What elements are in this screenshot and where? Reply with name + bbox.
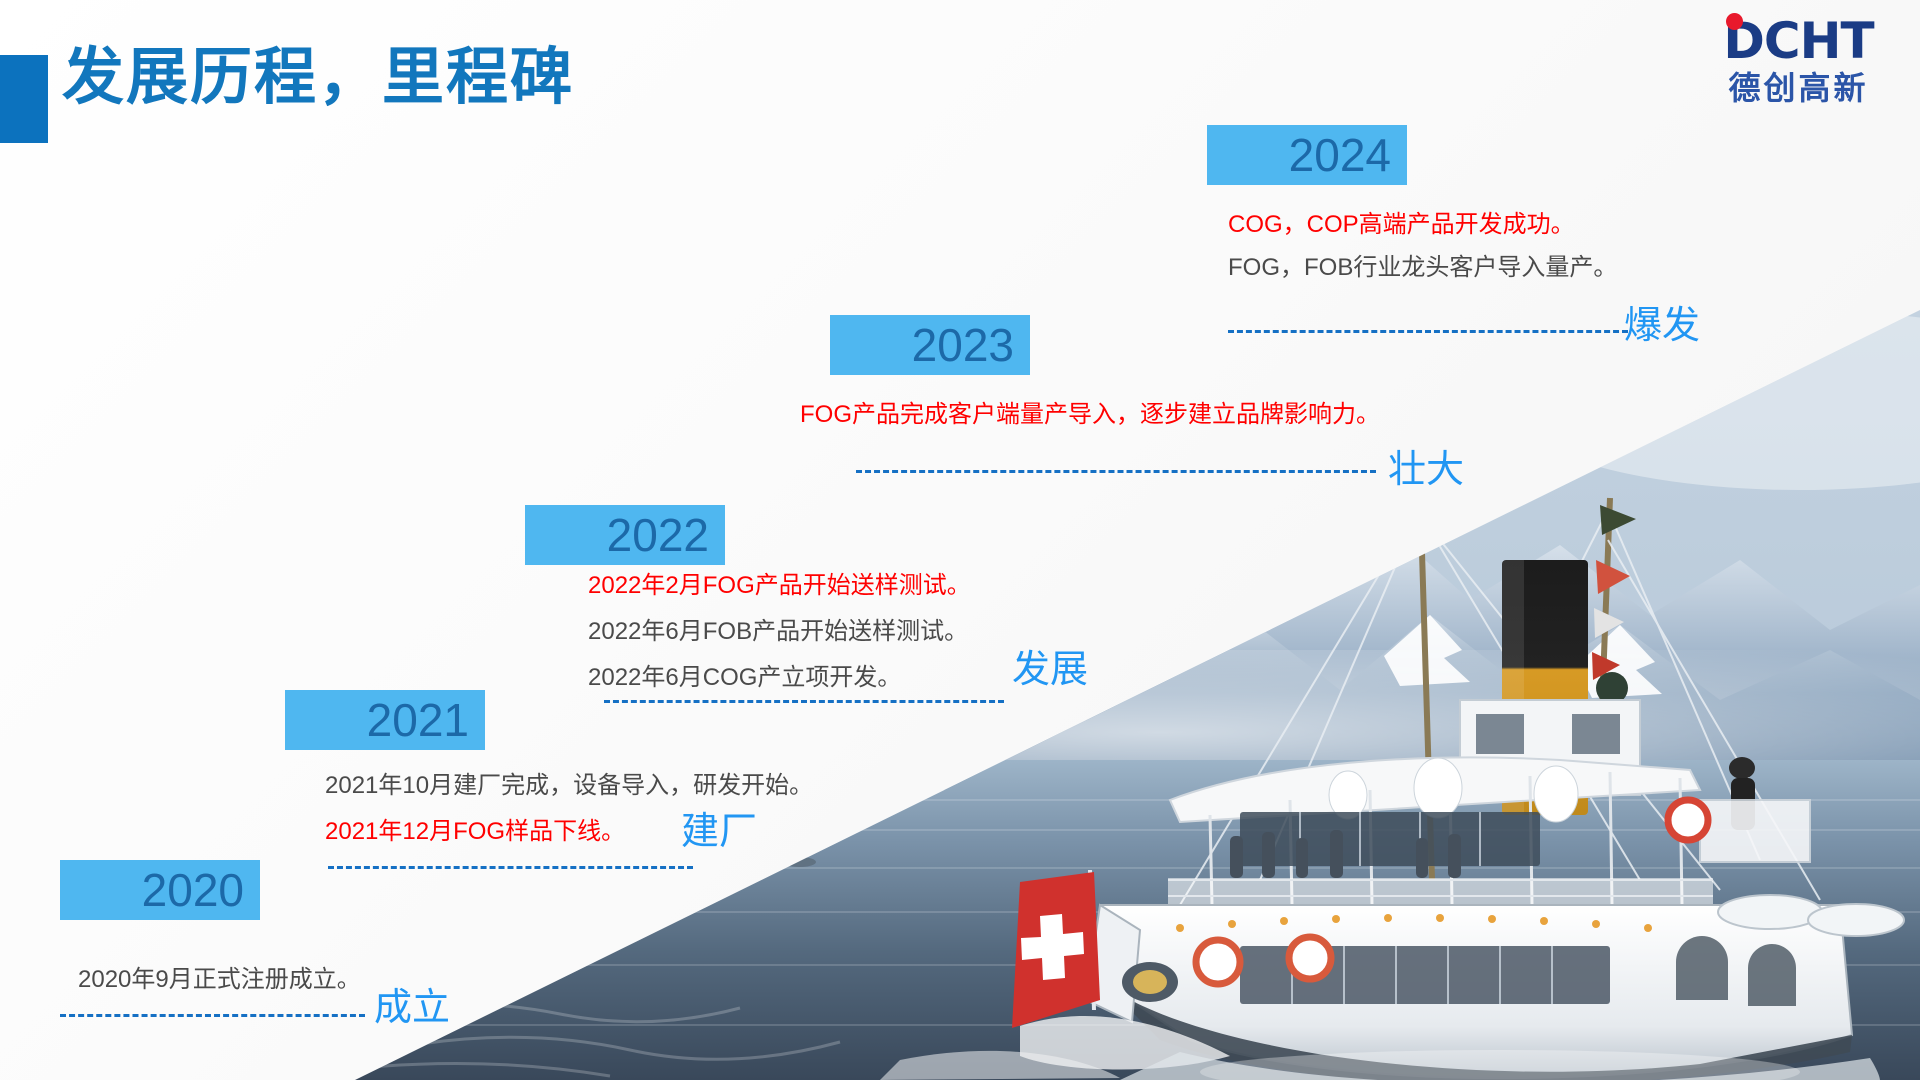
logo-chinese-name: 德创高新 [1728, 69, 1868, 107]
milestone-2024-line-2: FOG，FOB行业龙头客户导入量产。 [1228, 248, 1617, 288]
milestone-2021-line-1: 2021年10月建厂完成，设备导入，研发开始。 [325, 766, 813, 806]
dash-line-2023 [856, 470, 1376, 473]
stage-label-2020: 成立 [374, 986, 450, 1030]
company-logo: DCHT 德创高新 [1691, 6, 1906, 116]
milestone-2022-line-1: 2022年2月FOG产品开始送样测试。 [588, 566, 971, 606]
paddle-steamer-scene [0, 0, 1920, 1080]
milestone-2023-line-1: FOG产品完成客户端量产导入，逐步建立品牌影响力。 [800, 395, 1380, 435]
logo-wordmark: DCHT [1723, 15, 1873, 67]
milestone-2022-line-3: 2022年6月COG产立项开发。 [588, 658, 901, 698]
dash-line-2021 [328, 866, 693, 869]
milestone-2021-line-2: 2021年12月FOG样品下线。 [325, 812, 625, 852]
stage-label-2024: 爆发 [1624, 304, 1700, 348]
page-title: 发展历程，里程碑 [62, 44, 574, 112]
dash-line-2022 [604, 700, 1004, 703]
year-badge-2024[interactable]: 2024 [1207, 125, 1407, 185]
year-badge-2023[interactable]: 2023 [830, 315, 1030, 375]
year-badge-2020[interactable]: 2020 [60, 860, 260, 920]
stage-label-2021: 建厂 [681, 810, 757, 854]
stage-label-2023: 壮大 [1388, 448, 1464, 492]
logo-mark: DCHT [1723, 15, 1873, 67]
year-badge-2022[interactable]: 2022 [525, 505, 725, 565]
dash-line-2020 [60, 1014, 365, 1017]
title-accent-bar [0, 55, 48, 143]
year-badge-2021[interactable]: 2021 [285, 690, 485, 750]
dash-line-2024 [1228, 330, 1628, 333]
stage-label-2022: 发展 [1012, 648, 1088, 692]
milestone-2020-line-1: 2020年9月正式注册成立。 [78, 960, 361, 1000]
milestone-2022-line-2: 2022年6月FOB产品开始送样测试。 [588, 612, 968, 652]
milestone-2024-line-1: COG，COP高端产品开发成功。 [1228, 205, 1575, 245]
slide-root: 发展历程，里程碑 DCHT 德创高新 2020 2020年9月正式注册成立。 成… [0, 0, 1920, 1080]
background-photo [0, 0, 1920, 1080]
